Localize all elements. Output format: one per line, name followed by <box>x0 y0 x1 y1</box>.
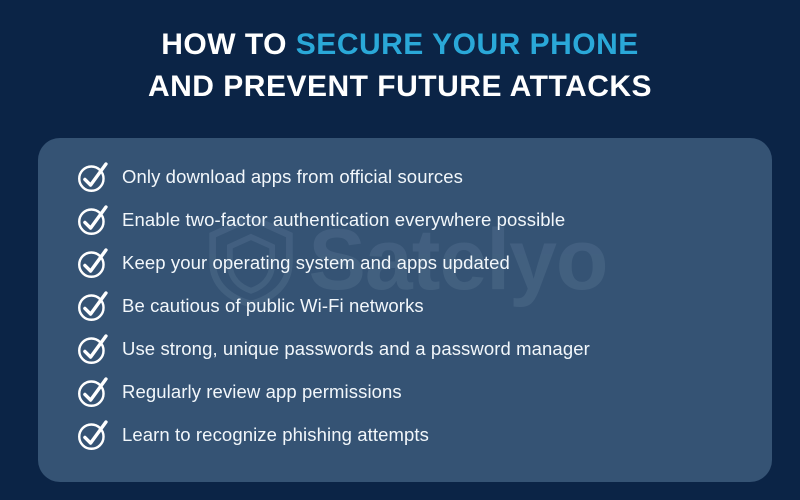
checklist: Only download apps from official sources… <box>38 138 772 482</box>
list-item-label: Keep your operating system and apps upda… <box>122 252 510 274</box>
list-item[interactable]: Use strong, unique passwords and a passw… <box>76 328 772 370</box>
title-line-1-plain: HOW TO <box>161 28 296 61</box>
infographic-canvas: HOW TO SECURE YOUR PHONE AND PREVENT FUT… <box>0 0 800 500</box>
list-item-label: Learn to recognize phishing attempts <box>122 424 429 446</box>
title-line-2: AND PREVENT FUTURE ATTACKS <box>0 72 800 102</box>
circle-check-icon <box>76 375 110 409</box>
title-line-1: HOW TO SECURE YOUR PHONE <box>0 30 800 60</box>
list-item[interactable]: Keep your operating system and apps upda… <box>76 242 772 284</box>
list-item[interactable]: Learn to recognize phishing attempts <box>76 414 772 456</box>
list-item-label: Use strong, unique passwords and a passw… <box>122 338 590 360</box>
page-title: HOW TO SECURE YOUR PHONE AND PREVENT FUT… <box>0 30 800 102</box>
list-item[interactable]: Be cautious of public Wi-Fi networks <box>76 285 772 327</box>
circle-check-icon <box>76 332 110 366</box>
title-line-1-accent: SECURE YOUR PHONE <box>296 28 639 61</box>
circle-check-icon <box>76 203 110 237</box>
circle-check-icon <box>76 246 110 280</box>
circle-check-icon <box>76 289 110 323</box>
circle-check-icon <box>76 418 110 452</box>
list-item[interactable]: Only download apps from official sources <box>76 156 772 198</box>
list-item-label: Enable two-factor authentication everywh… <box>122 209 565 231</box>
list-item[interactable]: Regularly review app permissions <box>76 371 772 413</box>
list-item[interactable]: Enable two-factor authentication everywh… <box>76 199 772 241</box>
checklist-card: Satelyo Only download apps from official… <box>38 138 772 482</box>
list-item-label: Be cautious of public Wi-Fi networks <box>122 295 424 317</box>
list-item-label: Regularly review app permissions <box>122 381 402 403</box>
circle-check-icon <box>76 160 110 194</box>
list-item-label: Only download apps from official sources <box>122 166 463 188</box>
